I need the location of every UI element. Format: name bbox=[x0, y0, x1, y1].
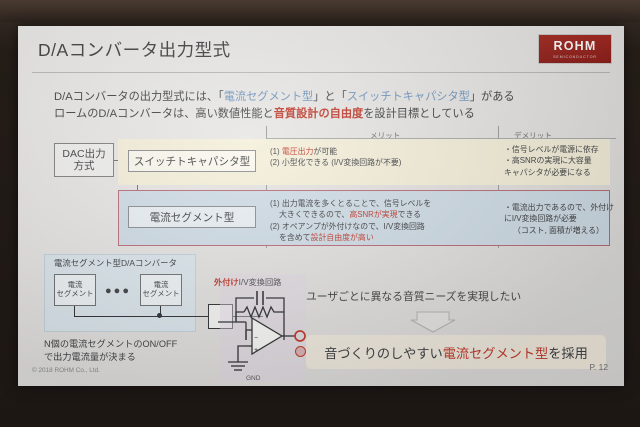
bullet-marker-icon bbox=[295, 346, 306, 357]
demerit-item: ・高SNRの実現に大容量 bbox=[504, 155, 616, 166]
title-divider bbox=[32, 72, 610, 73]
adopt-highlight: 電流セグメント型 bbox=[443, 346, 549, 361]
block-diagram-title: 電流セグメント型D/Aコンバータ bbox=[54, 257, 177, 269]
dac-label-line1: DAC出力 bbox=[62, 148, 105, 160]
demerit-cell-switched-capacitor: ・信号レベルが電源に依存 ・高SNRの実現に大容量 キャパシタが必要になる bbox=[504, 144, 616, 178]
page-title: D/Aコンバータ出力型式 bbox=[38, 37, 231, 62]
lead2-text-a: ロームのD/Aコンバータは、高い数値性能と bbox=[54, 108, 274, 120]
op-amp-circuit-schematic: GND − + bbox=[214, 284, 314, 384]
wire-seg1-down bbox=[74, 306, 75, 317]
slide-title-bar: D/Aコンバータ出力型式 ROHM SEMICONDUCTOR bbox=[18, 26, 624, 72]
wire-bus bbox=[74, 316, 186, 317]
dac-output-method-box: DAC出力 方式 bbox=[54, 143, 114, 177]
demerit-item: ・信号レベルが電源に依存 bbox=[504, 144, 616, 155]
adoption-callout-box: 音づくりのしやすい電流セグメント型を採用 bbox=[306, 335, 606, 369]
wire-to-output-node bbox=[185, 316, 209, 317]
lead2-text-b: を設計目標としている bbox=[363, 108, 475, 120]
adoption-callout-text: 音づくりのしやすい電流セグメント型を採用 bbox=[324, 343, 588, 362]
logo-tagline: SEMICONDUCTOR bbox=[553, 55, 597, 59]
lead-line-1: D/Aコンバータの出力型式には、「電流セグメント型」と「スイッチトキャパシタ型」… bbox=[54, 88, 515, 104]
merit-item: (1) 出力電流を多くとることで、信号レベルを bbox=[270, 198, 494, 209]
dac-label-line2: 方式 bbox=[74, 160, 95, 172]
wire-junction-dot bbox=[157, 313, 162, 318]
demerit-cell-current-segment: ・電流出力であるので、外付け にI/V変換回路が必要 （コスト, 面積が増える） bbox=[504, 202, 616, 236]
demerit-item: （コスト, 面積が増える） bbox=[504, 225, 616, 236]
lead1-text-a: D/Aコンバータの出力型式には、「 bbox=[54, 91, 224, 103]
block-diagram-caption: N個の電流セグメントのON/OFF で出力電流量が決まる bbox=[44, 338, 177, 365]
page-number: P. 12 bbox=[590, 362, 608, 372]
type-box-switched-capacitor: スイッチトキャパシタ型 bbox=[128, 150, 256, 172]
presentation-slide: D/Aコンバータ出力型式 ROHM SEMICONDUCTOR D/Aコンバータ… bbox=[18, 26, 624, 386]
lead-line-2: ロームのD/Aコンバータは、高い数値性能と音質設計の自由度を設計目標としている bbox=[54, 105, 475, 121]
current-segment-block-1: 電流 セグメント bbox=[54, 274, 96, 306]
type-box-current-segment: 電流セグメント型 bbox=[128, 206, 256, 228]
opamp-plus-sign: + bbox=[254, 347, 258, 354]
lead1-text-b: 」と「 bbox=[313, 91, 347, 103]
gnd-label: GND bbox=[246, 375, 261, 382]
lead1-highlight-switched-cap: スイッチトキャパシタ型 bbox=[347, 91, 470, 103]
merit-cell-current-segment: (1) 出力電流を多くとることで、信号レベルを 大きくできるので、高SNRが実現… bbox=[270, 198, 494, 244]
demerit-item: ・電流出力であるので、外付け bbox=[504, 202, 616, 213]
lead1-text-c: 」がある bbox=[470, 91, 515, 103]
merit-item-continued: 大きくできるので、高SNRが実現できる bbox=[270, 209, 494, 220]
demerit-item: にI/V変換回路が必要 bbox=[504, 213, 616, 224]
merit-cell-switched-capacitor: (1) 電圧出力が可能 (2) 小型化できる (I/V変換回路が不要) bbox=[270, 146, 494, 169]
lead2-highlight-freedom: 音質設計の自由度 bbox=[274, 108, 364, 120]
ellipsis-indicator: ●●● bbox=[102, 285, 134, 297]
merit-item: (2) オペアンプが外付けなので、I/V変換回路 bbox=[270, 221, 494, 232]
rohm-logo: ROHM SEMICONDUCTOR bbox=[538, 34, 612, 64]
merit-item: (1) 電圧出力が可能 bbox=[270, 146, 494, 157]
copyright-text: © 2018 ROHM Co., Ltd. bbox=[32, 367, 100, 374]
output-terminal-marker bbox=[295, 331, 305, 341]
caption-line1: N個の電流セグメントのON/OFF bbox=[44, 338, 177, 351]
merit-item: (2) 小型化できる (I/V変換回路が不要) bbox=[270, 157, 494, 168]
demerit-item: キャパシタが必要になる bbox=[504, 167, 616, 178]
lead1-highlight-current-segment: 電流セグメント型 bbox=[224, 91, 314, 103]
logo-wordmark: ROHM bbox=[554, 40, 597, 53]
merit-item-continued: を含めて設計自由度が高い bbox=[270, 232, 494, 243]
user-need-text: ユーザごとに異なる音質ニーズを実現したい bbox=[306, 288, 521, 304]
opamp-minus-sign: − bbox=[254, 335, 258, 342]
adopt-suffix: を採用 bbox=[548, 346, 588, 361]
current-segment-block-n: 電流 セグメント bbox=[140, 274, 182, 306]
down-arrow-icon bbox=[410, 311, 456, 333]
caption-line2: で出力電流量が決まる bbox=[44, 351, 177, 364]
adopt-prefix: 音づくりのしやすい bbox=[324, 346, 443, 361]
